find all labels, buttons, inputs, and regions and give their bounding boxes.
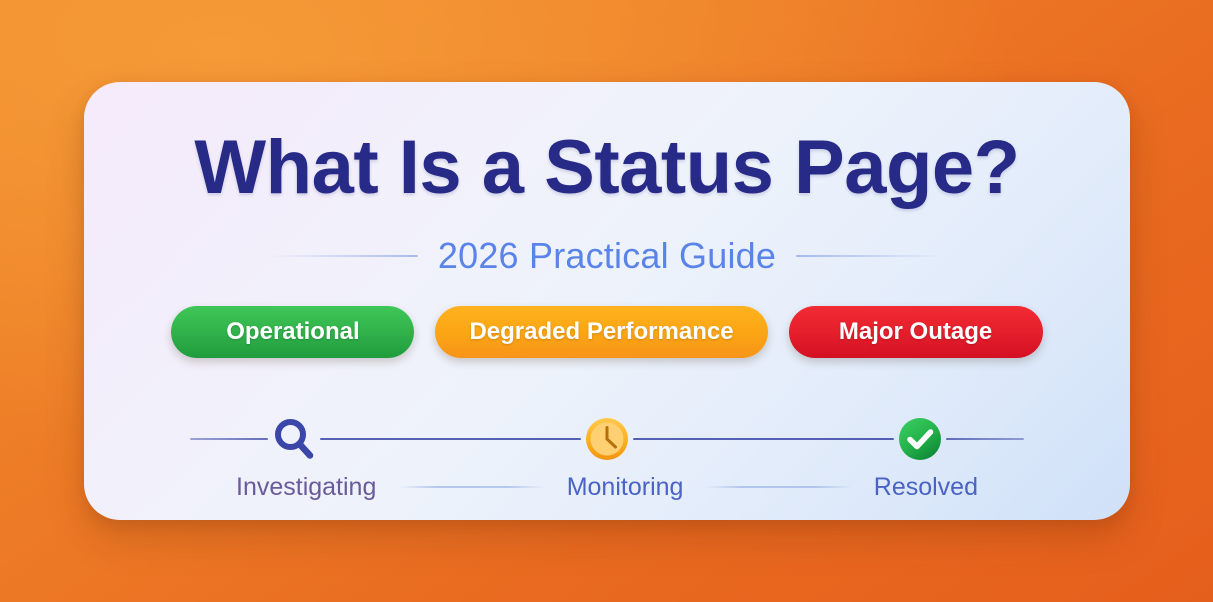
timeline-step-resolved[interactable] [894, 413, 946, 465]
clock-icon [584, 416, 630, 462]
subtitle-row: 2026 Practical Guide [84, 234, 1130, 278]
timeline-track [190, 413, 1024, 465]
magnifying-glass-icon [270, 415, 318, 463]
status-badge-label: Major Outage [839, 318, 992, 346]
timeline-label-monitoring: Monitoring [567, 473, 684, 502]
incident-timeline: Investigating Monitoring Resolved [190, 382, 1024, 492]
page-title: What Is a Status Page? [84, 130, 1130, 206]
status-badge-label: Degraded Performance [469, 318, 733, 346]
timeline-step-monitoring[interactable] [581, 413, 633, 465]
subtitle-rule-right [796, 255, 944, 257]
status-badge-group: Operational Degraded Performance Major O… [84, 306, 1130, 358]
timeline-labels: Investigating Monitoring Resolved [190, 470, 1024, 504]
status-badge-operational[interactable]: Operational [171, 306, 414, 358]
status-badge-major-outage[interactable]: Major Outage [789, 306, 1043, 358]
timeline-connector-start [190, 438, 268, 440]
timeline-connector-1 [320, 438, 581, 440]
timeline-step-investigating[interactable] [268, 413, 320, 465]
timeline-connector-end [946, 438, 1024, 440]
timeline-label-investigating: Investigating [236, 473, 376, 502]
timeline-label-rule-1 [398, 486, 544, 488]
status-badge-label: Operational [226, 318, 359, 346]
timeline-label-resolved: Resolved [874, 473, 978, 502]
hero-card: What Is a Status Page? 2026 Practical Gu… [84, 82, 1130, 520]
timeline-connector-2 [633, 438, 894, 440]
check-circle-icon [897, 416, 943, 462]
subtitle-rule-left [270, 255, 418, 257]
status-badge-degraded-performance[interactable]: Degraded Performance [435, 306, 767, 358]
timeline-label-rule-2 [705, 486, 851, 488]
page-subtitle: 2026 Practical Guide [438, 235, 776, 277]
